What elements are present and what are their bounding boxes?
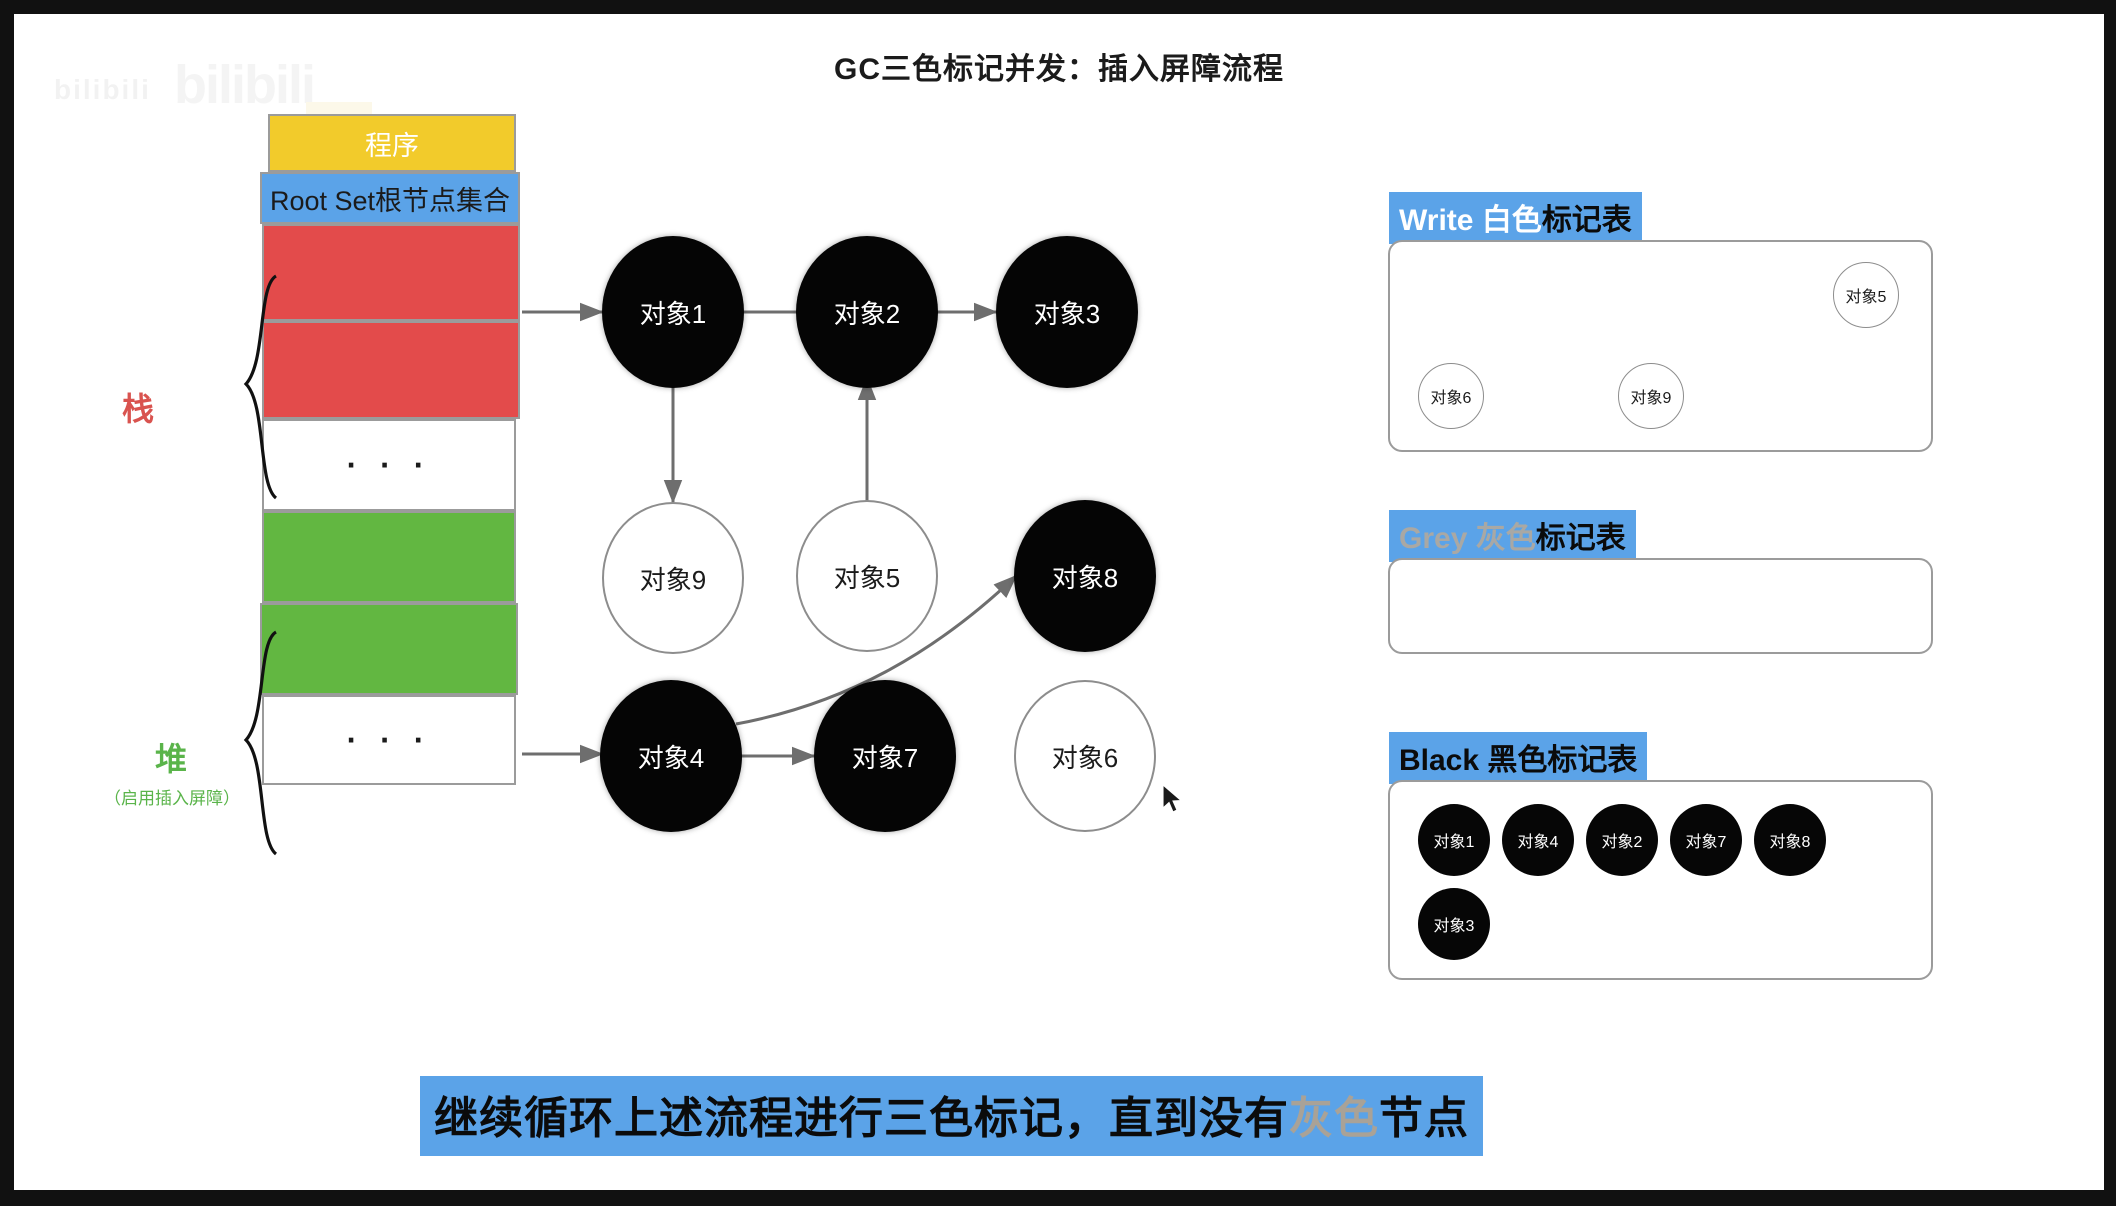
grey-table-title-en: Grey (1399, 522, 1467, 555)
chip-label: 对象4 (1518, 828, 1559, 852)
black-table-chip-obj1[interactable]: 对象1 (1418, 804, 1490, 876)
black-mark-table[interactable]: 对象1 对象4 对象2 对象7 对象8 对象3 (1388, 780, 1933, 980)
chip-label: 对象5 (1846, 283, 1887, 307)
video-frame: bilibili bilibili GC三色标记并发：插入屏障流程 程序 Roo… (0, 0, 2116, 1206)
graph-node-obj4[interactable]: 对象4 (600, 680, 742, 832)
chip-label: 对象9 (1631, 384, 1672, 408)
slide-canvas: bilibili bilibili GC三色标记并发：插入屏障流程 程序 Roo… (14, 14, 2104, 1190)
black-table-title-rest: 标记表 (1547, 744, 1637, 777)
black-table-chip-obj3[interactable]: 对象3 (1418, 888, 1490, 960)
black-table-title-en: Black (1399, 744, 1479, 777)
node-label: 对象9 (640, 560, 706, 597)
graph-node-obj7[interactable]: 对象7 (814, 680, 956, 832)
chip-label: 对象3 (1434, 912, 1475, 936)
black-table-chip-obj7[interactable]: 对象7 (1670, 804, 1742, 876)
node-label: 对象2 (834, 294, 900, 331)
mouse-cursor-icon (1162, 784, 1184, 816)
grey-mark-table[interactable] (1388, 558, 1933, 654)
chip-label: 对象2 (1602, 828, 1643, 852)
graph-node-obj3[interactable]: 对象3 (996, 236, 1138, 388)
white-table-title-en: Write (1399, 204, 1473, 237)
grey-table-title-rest: 标记表 (1536, 522, 1626, 555)
node-label: 对象6 (1052, 738, 1118, 775)
subtitle-highlight: 灰色 (1289, 1094, 1379, 1143)
grey-table-title: Grey 灰色标记表 (1389, 510, 1636, 562)
graph-node-obj9[interactable]: 对象9 (602, 502, 744, 654)
graph-node-obj1[interactable]: 对象1 (602, 236, 744, 388)
black-table-title: Black 黑色标记表 (1389, 732, 1647, 784)
chip-label: 对象6 (1431, 384, 1472, 408)
graph-node-obj8[interactable]: 对象8 (1014, 500, 1156, 652)
black-table-chip-obj4[interactable]: 对象4 (1502, 804, 1574, 876)
subtitle-part2: 节点 (1379, 1094, 1469, 1143)
grey-table-title-color: 灰色 (1476, 522, 1536, 555)
chip-label: 对象8 (1770, 828, 1811, 852)
node-label: 对象4 (638, 738, 704, 775)
graph-node-obj2[interactable]: 对象2 (796, 236, 938, 388)
black-table-chip-obj8[interactable]: 对象8 (1754, 804, 1826, 876)
node-label: 对象7 (852, 738, 918, 775)
chip-label: 对象1 (1434, 828, 1475, 852)
white-table-chip-obj6[interactable]: 对象6 (1418, 363, 1484, 429)
node-label: 对象5 (834, 558, 900, 595)
black-table-title-color: 黑色 (1487, 744, 1547, 777)
subtitle-bar: 继续循环上述流程进行三色标记，直到没有灰色节点 (420, 1076, 1483, 1156)
subtitle-part1: 继续循环上述流程进行三色标记，直到没有 (434, 1094, 1289, 1143)
node-label: 对象3 (1034, 294, 1100, 331)
white-table-chip-obj5[interactable]: 对象5 (1833, 262, 1899, 328)
graph-node-obj5[interactable]: 对象5 (796, 500, 938, 652)
chip-label: 对象7 (1686, 828, 1727, 852)
white-table-title-color: 白色 (1482, 204, 1542, 237)
white-table-title: Write 白色标记表 (1389, 192, 1642, 244)
node-label: 对象8 (1052, 558, 1118, 595)
white-table-chip-obj9[interactable]: 对象9 (1618, 363, 1684, 429)
black-table-chip-obj2[interactable]: 对象2 (1586, 804, 1658, 876)
graph-node-obj6[interactable]: 对象6 (1014, 680, 1156, 832)
white-mark-table[interactable]: 对象5 对象6 对象9 (1388, 240, 1933, 452)
node-label: 对象1 (640, 294, 706, 331)
white-table-title-rest: 标记表 (1542, 204, 1632, 237)
